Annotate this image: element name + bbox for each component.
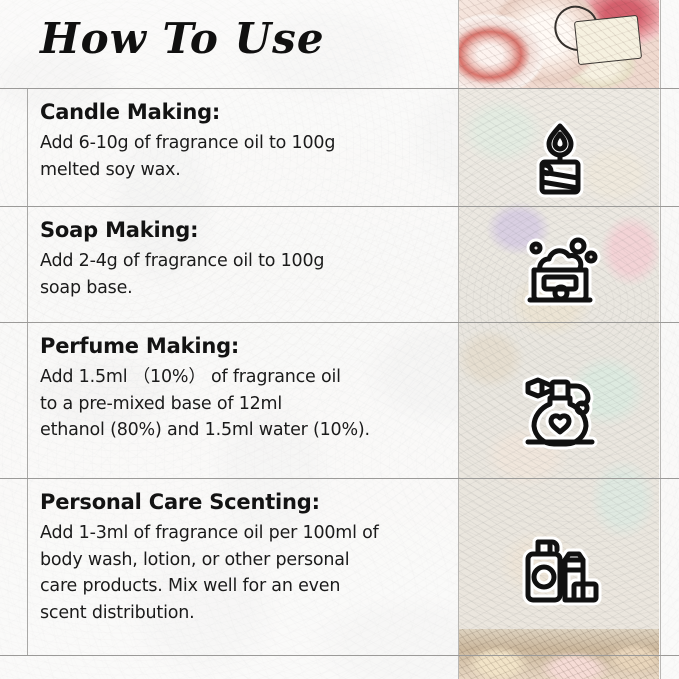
section-body: Add 1.5ml （10%） of fragrance oil to a pr… xyxy=(40,364,440,444)
divider-2 xyxy=(0,206,679,207)
divider-1 xyxy=(0,88,679,89)
section-soap-making: Soap Making: Add 2-4g of fragrance oil t… xyxy=(40,218,440,301)
paper-tag xyxy=(574,15,642,65)
divider-4 xyxy=(0,478,679,479)
section-perfume-making: Perfume Making: Add 1.5ml （10%） of fragr… xyxy=(40,334,440,444)
left-margin-rule xyxy=(27,88,28,655)
divider-3 xyxy=(0,322,679,323)
section-body: Add 6-10g of fragrance oil to 100g melte… xyxy=(40,130,440,183)
personal-care-products-icon xyxy=(512,520,608,616)
floral-still-life-photo xyxy=(458,629,659,679)
section-body: Add 1-3ml of fragrance oil per 100ml of … xyxy=(40,520,440,626)
perfume-bottle-icon xyxy=(512,360,608,456)
section-body: Add 2-4g of fragrance oil to 100g soap b… xyxy=(40,248,440,301)
rose-and-tag-photo xyxy=(458,0,659,88)
candle-icon xyxy=(512,106,608,202)
section-heading: Candle Making: xyxy=(40,100,440,124)
tag-string-icon xyxy=(547,0,604,57)
how-to-use-infographic: How To Use Candle Making: Add 6-10g of f… xyxy=(0,0,679,679)
section-heading: Personal Care Scenting: xyxy=(40,490,440,514)
divider-5 xyxy=(0,655,679,656)
soap-bar-icon xyxy=(512,222,608,318)
section-candle-making: Candle Making: Add 6-10g of fragrance oi… xyxy=(40,100,440,183)
section-heading: Soap Making: xyxy=(40,218,440,242)
section-heading: Perfume Making: xyxy=(40,334,440,358)
page-title: How To Use xyxy=(40,14,325,63)
section-personal-care-scenting: Personal Care Scenting: Add 1-3ml of fra… xyxy=(40,490,440,626)
